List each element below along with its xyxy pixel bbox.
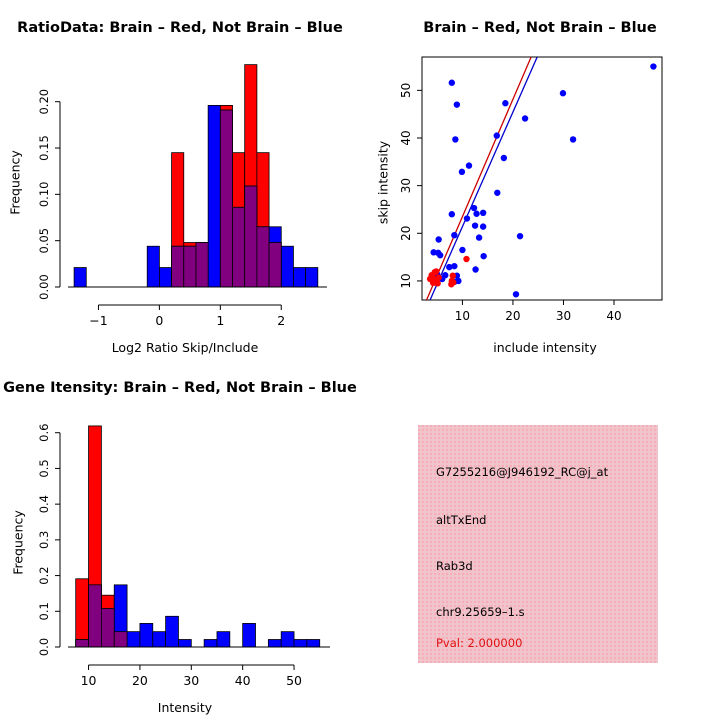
histogram-bar-overlap (257, 227, 269, 287)
gene-info-panel: G7255216@J946192_RC@j_at altTxEnd Rab3d … (418, 425, 658, 663)
scatter-point-not-brain (476, 234, 482, 240)
scatter-point-not-brain (454, 101, 460, 107)
histogram-bar-overlap (89, 585, 102, 647)
scatter-point-brain (428, 272, 434, 278)
regression-line (427, 57, 532, 300)
info-pval: Pval: 2.000000 (436, 636, 522, 650)
scatter-point-not-brain (446, 264, 452, 270)
histogram-bar-not-brain (217, 632, 230, 647)
y-axis-tick-label: 0.0 (37, 638, 51, 656)
info-gene-name: Rab3d (436, 559, 473, 573)
histogram-bar-not-brain (268, 640, 281, 648)
scatter-point-not-brain (480, 253, 486, 259)
x-axis-tick-label: 10 (455, 309, 470, 323)
y-axis-tick-label: 0.10 (37, 182, 51, 208)
y-axis-tick-label: 0.3 (37, 531, 51, 549)
y-axis-tick-label: 20 (399, 226, 413, 241)
y-axis-tick-label: 0.05 (37, 228, 51, 254)
histogram-bar-overlap (269, 243, 281, 287)
scatter-point-not-brain (459, 247, 465, 253)
scatter-point-not-brain (472, 222, 478, 228)
histogram-bar-overlap (220, 110, 232, 287)
scatter-point-not-brain (480, 210, 486, 216)
scatter-point-not-brain (502, 100, 508, 106)
scatter-point-not-brain (501, 155, 507, 161)
scatter-point-not-brain (464, 215, 470, 221)
scatter-point-not-brain (494, 132, 500, 138)
gene-histogram-plot: 0.00.10.20.30.40.50.61020304050 (0, 360, 360, 720)
plot-frame (422, 57, 662, 300)
histogram-bar-not-brain (166, 616, 179, 647)
histogram-bar-not-brain (178, 640, 191, 648)
scatter-point-not-brain (437, 252, 443, 258)
histogram-bar-not-brain (159, 268, 171, 287)
scatter-point-not-brain (650, 63, 656, 69)
scatter-point-not-brain (451, 232, 457, 238)
histogram-bar-brain (76, 579, 89, 647)
scatter-point-not-brain (472, 266, 478, 272)
histogram-bar-overlap (101, 608, 114, 647)
regression-line (430, 57, 537, 300)
scatter-point-not-brain (494, 190, 500, 196)
x-axis-tick-label: 10 (81, 673, 97, 688)
histogram-bar-not-brain (306, 268, 318, 287)
scatter-plot-panel: Brain – Red, Not Brain – Blue skip inten… (360, 0, 720, 360)
histogram-bar-not-brain (208, 105, 220, 287)
histogram-bar-not-brain (281, 246, 293, 287)
scatter-point-not-brain (449, 80, 455, 86)
x-axis-tick-label: 0 (155, 313, 163, 328)
scatter-point-not-brain (449, 211, 455, 217)
info-event-type: altTxEnd (436, 513, 486, 527)
scatter-point-not-brain (560, 90, 566, 96)
scatter-point-brain (449, 278, 455, 284)
scatter-point-brain (463, 256, 469, 262)
gene-histogram-panel: Gene Itensity: Brain – Red, Not Brain – … (0, 360, 360, 720)
histogram-bar-not-brain (74, 268, 86, 287)
y-axis-tick-label: 50 (399, 83, 413, 98)
histogram-bar-overlap (184, 246, 196, 287)
histogram-bar-not-brain (294, 640, 307, 648)
scatter-point-not-brain (570, 136, 576, 142)
x-axis-tick-label: 50 (286, 673, 302, 688)
scatter-point-not-brain (459, 169, 465, 175)
ratio-histogram-plot: 0.000.050.100.150.20−1012 (0, 0, 360, 360)
x-axis-tick-label: 1 (216, 313, 224, 328)
x-axis-tick-label: 20 (505, 309, 520, 323)
ratio-histogram-panel: RatioData: Brain – Red, Not Brain – Blue… (0, 0, 360, 360)
x-axis-tick-label: 20 (132, 673, 148, 688)
histogram-bar-overlap (245, 186, 257, 287)
y-axis-tick-label: 30 (399, 178, 413, 193)
y-axis-tick-label: 40 (399, 130, 413, 145)
histogram-bar-overlap (172, 246, 184, 287)
histogram-bar-not-brain (293, 268, 305, 287)
scatter-point-not-brain (473, 211, 479, 217)
histogram-bar-not-brain (153, 632, 166, 647)
scatter-point-not-brain (513, 291, 519, 297)
info-probe-id: G7255216@J946192_RC@j_at (436, 465, 608, 479)
y-axis-tick-label: 0.20 (37, 89, 51, 115)
histogram-bar-not-brain (281, 632, 294, 647)
histogram-bar-not-brain (307, 640, 320, 648)
y-axis-tick-label: 0.15 (37, 135, 51, 161)
histogram-bar-overlap (114, 632, 127, 647)
y-axis-tick-label: 0.2 (37, 566, 51, 584)
y-axis-tick-label: 0.5 (37, 459, 51, 477)
y-axis-tick-label: 0.6 (37, 424, 51, 442)
scatter-point-not-brain (435, 236, 441, 242)
histogram-bar-overlap (233, 207, 245, 287)
x-axis-tick-label: 30 (183, 673, 199, 688)
scatter-point-not-brain (471, 205, 477, 211)
y-axis-tick-label: 0.00 (37, 274, 51, 300)
y-axis-tick-label: 0.4 (37, 495, 51, 513)
histogram-bar-overlap (76, 640, 89, 648)
y-axis-tick-label: 0.1 (37, 602, 51, 620)
histogram-bar-not-brain (204, 640, 217, 648)
x-axis-tick-label: 30 (556, 309, 571, 323)
histogram-bar-not-brain (243, 623, 256, 647)
scatter-point-not-brain (452, 136, 458, 142)
x-axis-tick-label: −1 (89, 313, 107, 328)
histogram-bar-not-brain (147, 246, 159, 287)
y-axis-tick-label: 10 (399, 273, 413, 288)
scatter-plot-canvas: 102030405010203040 (360, 0, 720, 360)
x-axis-tick-label: 40 (235, 673, 251, 688)
histogram-bar-not-brain (140, 623, 153, 647)
x-axis-tick-label: 40 (606, 309, 621, 323)
histogram-bar-not-brain (127, 632, 140, 647)
x-axis-tick-label: 2 (277, 313, 285, 328)
info-coordinate: chr9.25659–1.s (436, 605, 525, 619)
scatter-point-not-brain (466, 162, 472, 168)
scatter-point-brain (435, 274, 441, 280)
scatter-point-not-brain (480, 223, 486, 229)
scatter-point-not-brain (517, 233, 523, 239)
scatter-point-not-brain (522, 115, 528, 121)
histogram-bar-overlap (196, 243, 208, 287)
